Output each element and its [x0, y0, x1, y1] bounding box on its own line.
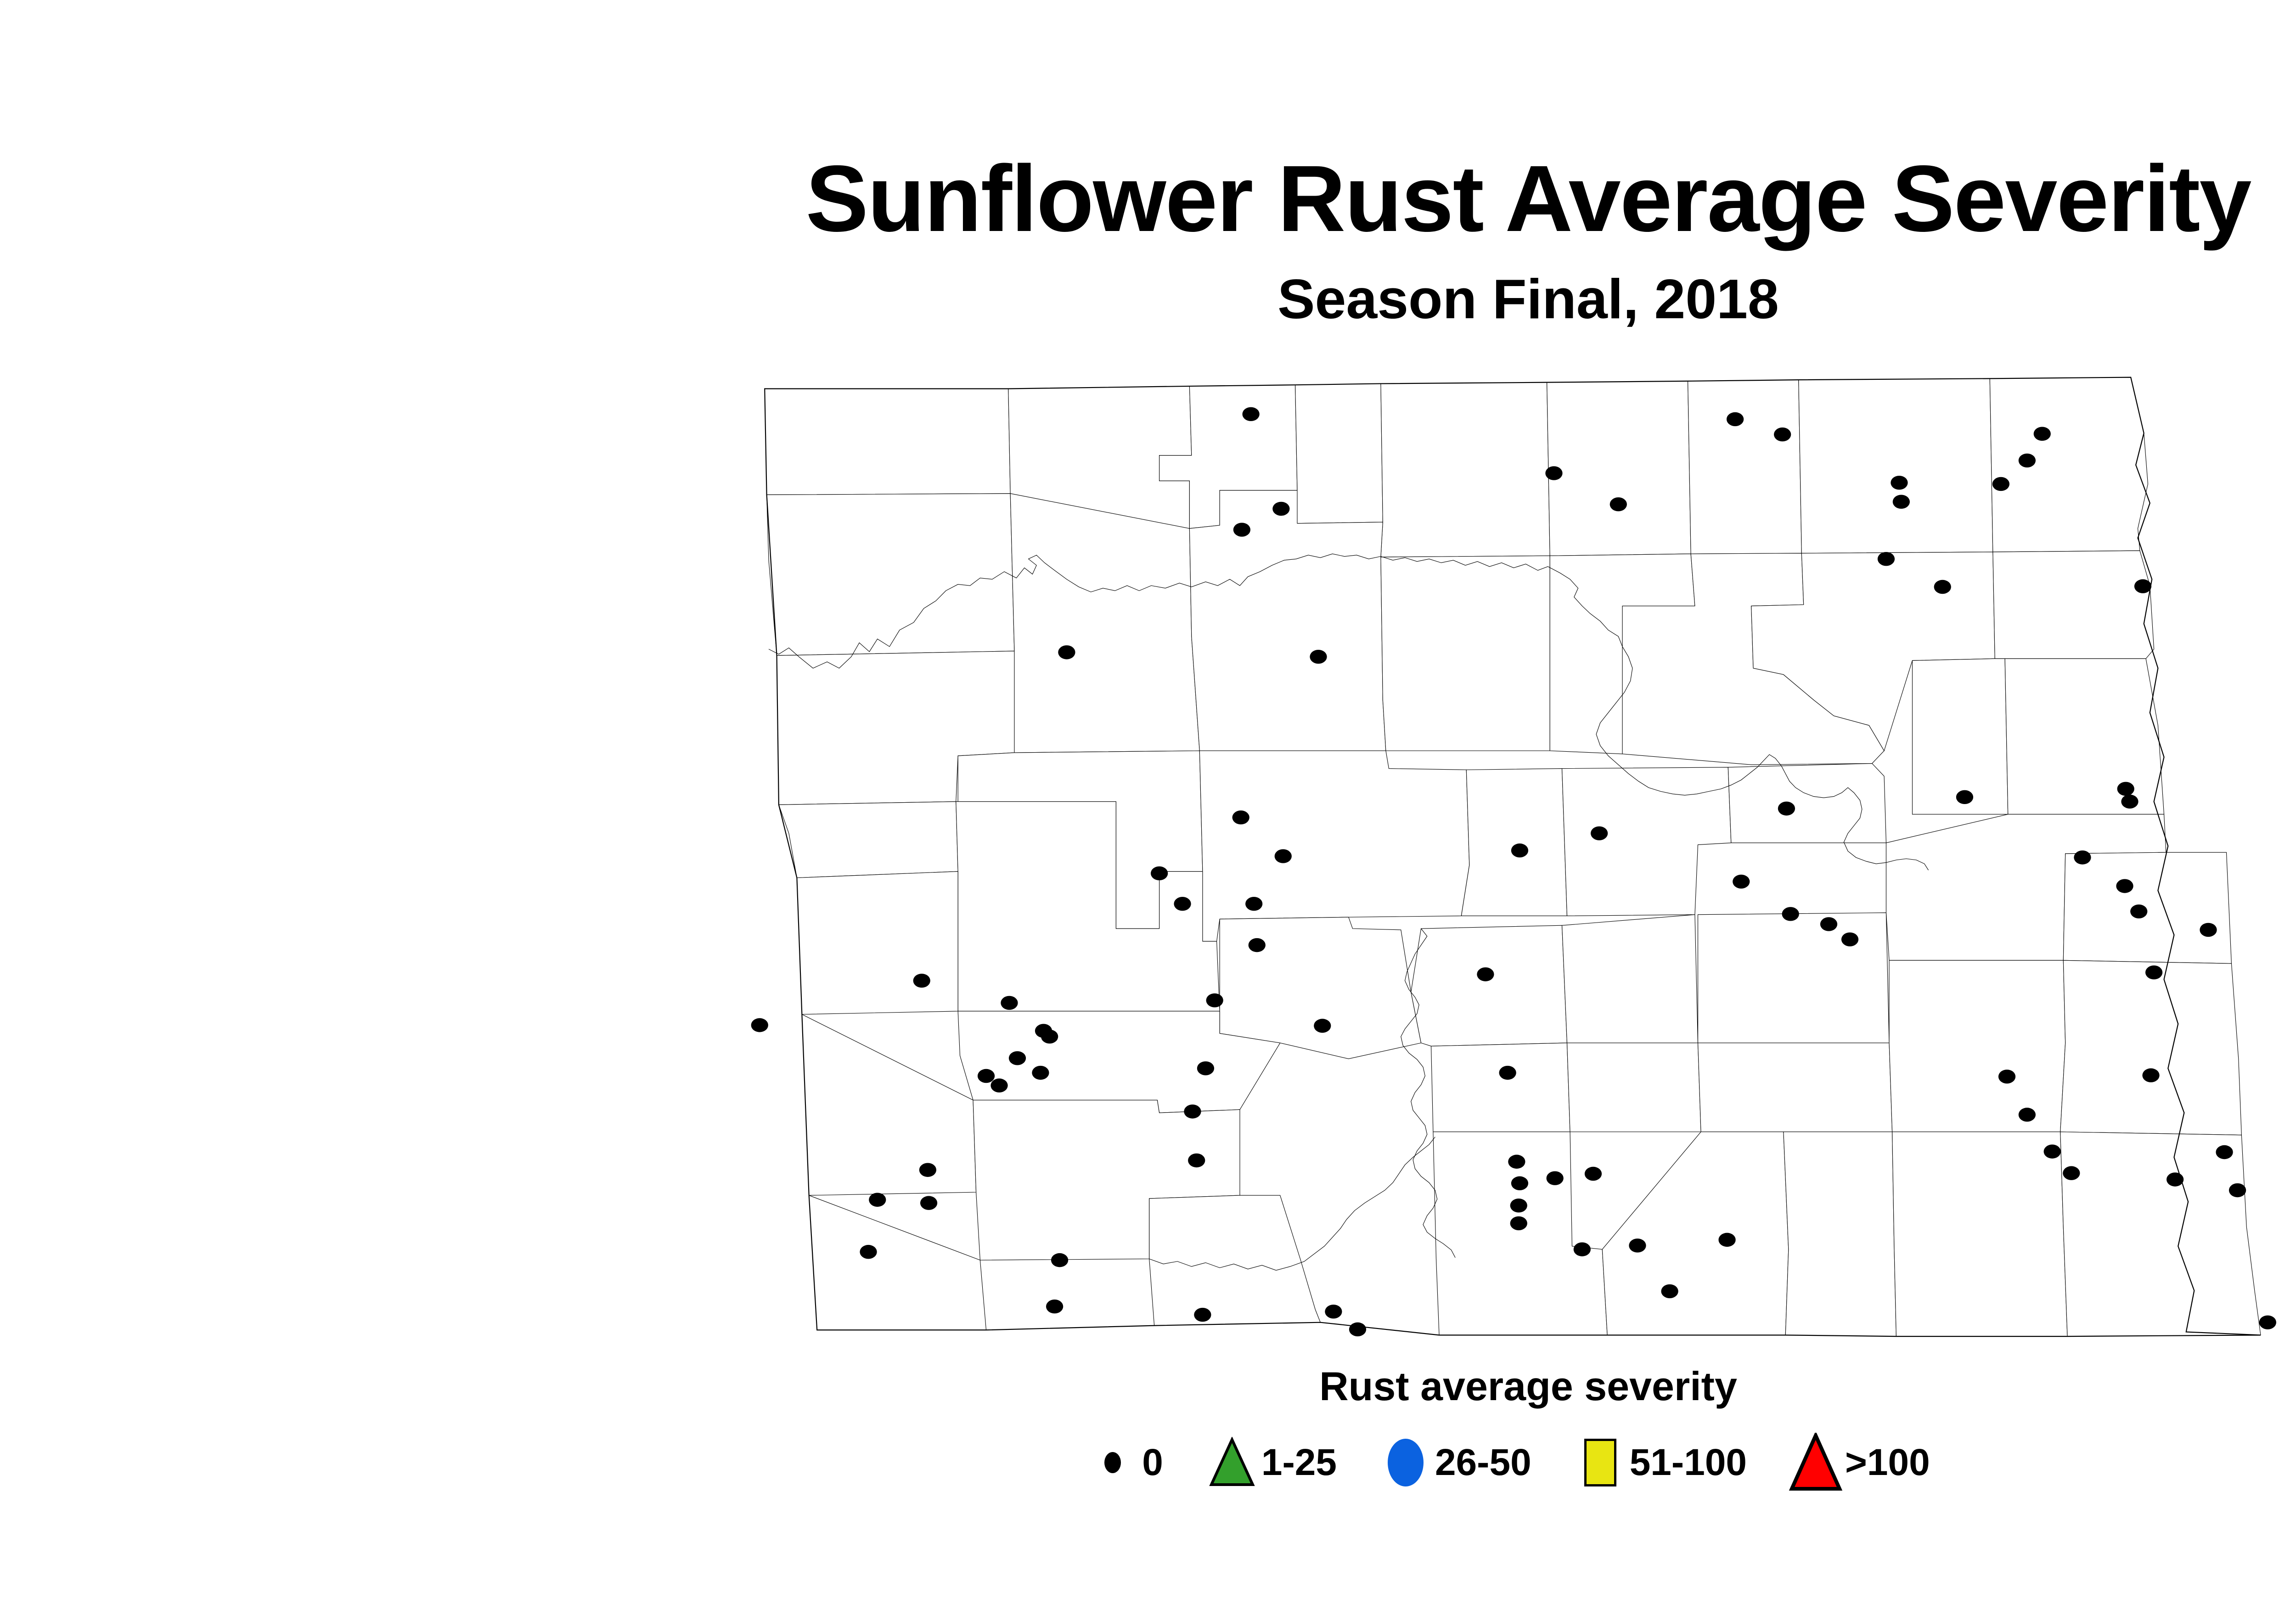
survey-point — [1629, 1238, 1646, 1252]
survey-point — [1009, 1051, 1026, 1065]
survey-point — [1206, 993, 1223, 1007]
survey-point — [869, 1193, 886, 1207]
survey-point — [1820, 917, 1837, 931]
survey-point — [978, 1069, 995, 1083]
survey-point — [1188, 1154, 1205, 1167]
survey-point — [2142, 1068, 2159, 1082]
county-layer — [765, 377, 2261, 1337]
survey-point — [1661, 1284, 1678, 1298]
survey-point — [2130, 905, 2147, 918]
survey-point — [1774, 428, 1791, 441]
survey-point — [1510, 1199, 1527, 1212]
legend-item-26-50[interactable]: 26-50 — [1378, 1428, 1573, 1497]
survey-point — [1197, 1061, 1214, 1075]
survey-point — [1058, 645, 1075, 659]
survey-point — [2134, 579, 2151, 593]
north-dakota-county-map — [716, 370, 2287, 1348]
survey-point — [1511, 844, 1528, 857]
survey-point — [1232, 811, 1249, 824]
survey-point — [1878, 552, 1895, 566]
survey-point — [920, 1196, 937, 1210]
survey-point — [1314, 1019, 1331, 1033]
survey-point — [1249, 938, 1266, 952]
page-subtitle: Season Final, 2018 — [0, 271, 2296, 327]
blue-circle-icon — [1378, 1428, 1433, 1497]
survey-point — [1778, 802, 1795, 816]
page-title: Sunflower Rust Average Severity — [0, 152, 2296, 246]
legend-item-51-100[interactable]: 51-100 — [1573, 1428, 1788, 1497]
survey-point — [2074, 850, 2091, 864]
survey-point — [1001, 996, 1018, 1010]
survey-point — [2216, 1145, 2233, 1159]
survey-point — [1194, 1308, 1211, 1322]
survey-point — [2019, 454, 2036, 467]
survey-point — [1956, 790, 1973, 804]
legend-item-0[interactable]: 0 — [1085, 1428, 1204, 1497]
survey-point — [990, 1079, 1007, 1092]
red-triangle-icon — [1788, 1428, 1843, 1497]
survey-point — [1477, 968, 1494, 981]
survey-point — [1051, 1253, 1068, 1267]
legend-label-over-100: >100 — [1845, 1441, 1930, 1484]
survey-point — [1184, 1104, 1201, 1118]
survey-point — [1349, 1323, 1366, 1336]
survey-point — [1272, 502, 1289, 516]
survey-point — [1046, 1300, 1063, 1313]
survey-point — [2063, 1166, 2080, 1180]
survey-point — [2117, 782, 2134, 796]
legend-label-51-100: 51-100 — [1630, 1441, 1747, 1484]
green-triangle-icon — [1204, 1428, 1260, 1497]
legend: 0 1-25 26-50 51-100 — [0, 1428, 2296, 1497]
survey-point — [1718, 1233, 1735, 1247]
yellow-square-icon — [1573, 1428, 1628, 1497]
survey-point — [1151, 867, 1168, 880]
survey-point — [1893, 495, 1910, 508]
survey-point — [1998, 1070, 2015, 1083]
survey-point — [1545, 466, 1562, 480]
survey-point — [1574, 1242, 1591, 1256]
survey-point — [1992, 477, 2009, 491]
survey-point — [1547, 1171, 1564, 1185]
survey-point — [2229, 1183, 2246, 1197]
survey-point — [1733, 875, 1750, 889]
legend-heading: Rust average severity — [0, 1366, 2296, 1407]
survey-point — [1499, 1066, 1516, 1080]
survey-point — [1610, 497, 1627, 511]
survey-point — [1591, 826, 1608, 840]
survey-point — [919, 1163, 936, 1177]
legend-label-26-50: 26-50 — [1435, 1441, 1531, 1484]
survey-point — [2044, 1144, 2061, 1158]
survey-point — [1310, 650, 1327, 664]
survey-point — [2019, 1108, 2036, 1121]
figure-canvas: Sunflower Rust Average Severity Season F… — [0, 0, 2296, 1610]
survey-point — [1275, 849, 1292, 863]
survey-point — [860, 1245, 877, 1259]
survey-point — [2034, 427, 2051, 440]
survey-point — [1508, 1155, 1525, 1169]
survey-point — [2167, 1172, 2183, 1186]
survey-point — [1727, 412, 1744, 426]
survey-point — [2200, 923, 2217, 937]
legend-label-0: 0 — [1142, 1441, 1163, 1484]
survey-point — [1510, 1216, 1527, 1230]
black-dot-icon — [1085, 1428, 1140, 1497]
legend-label-1-25: 1-25 — [1261, 1441, 1337, 1484]
legend-item-1-25[interactable]: 1-25 — [1204, 1428, 1378, 1497]
survey-point — [2259, 1315, 2276, 1329]
map-svg — [716, 370, 2287, 1348]
survey-point — [913, 974, 930, 987]
legend-item-over-100[interactable]: >100 — [1788, 1428, 1971, 1497]
survey-point — [1891, 476, 1908, 490]
survey-point — [1041, 1030, 1058, 1043]
survey-point — [751, 1018, 768, 1032]
survey-point — [1325, 1305, 1342, 1318]
survey-point — [1782, 907, 1799, 921]
survey-point — [1174, 897, 1191, 911]
survey-point — [1841, 932, 1858, 946]
survey-point — [1245, 897, 1262, 911]
survey-point — [1233, 523, 1250, 536]
survey-point — [2145, 965, 2162, 979]
survey-point — [1242, 407, 1259, 421]
survey-point — [2121, 794, 2138, 808]
survey-point — [1032, 1066, 1049, 1080]
survey-point — [2116, 879, 2133, 893]
survey-point — [1511, 1177, 1528, 1190]
survey-point — [1585, 1167, 1602, 1181]
survey-point — [1934, 580, 1951, 594]
